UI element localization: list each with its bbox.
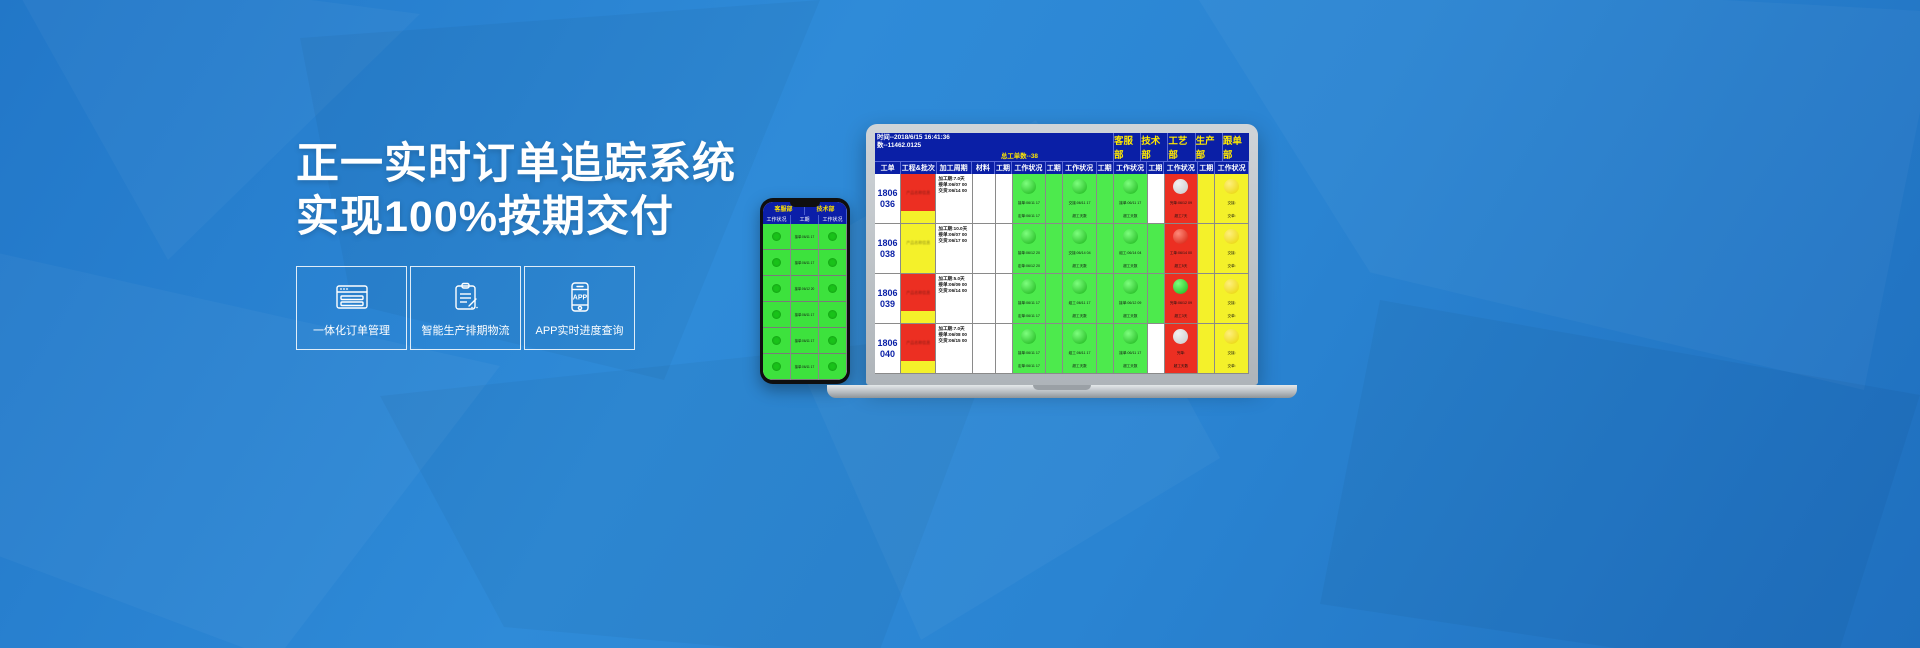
status-dot-green: [1123, 179, 1138, 194]
cell-status[interactable]: 接单:06/12 09超工天数: [1114, 274, 1148, 323]
cell-status[interactable]: 接单:06/11 17定单:06/11 17: [1013, 274, 1047, 323]
status-label: 交接:06/11 17: [1069, 201, 1091, 206]
status-label: 接单:06/12 20: [1018, 251, 1040, 256]
project-name: 产品名称信息: [904, 340, 932, 345]
feature-card-app-tracking[interactable]: APP APP实时进度查询: [524, 266, 635, 350]
cell-material: [973, 324, 996, 373]
workorder-prefix: 1806: [878, 288, 898, 299]
status-label: 超工天数: [1072, 214, 1086, 219]
status-label: 交接:: [1228, 251, 1236, 256]
cell-cycle: 加工期:7.0天接单:06/08 00交货:06/15 00: [936, 324, 972, 373]
status-dot-grey: [1173, 329, 1188, 344]
phone-status-cell[interactable]: [819, 276, 846, 302]
cell-status[interactable]: 完单:06/12 09超工3天: [1165, 274, 1199, 323]
phone-label-cell[interactable]: 接单:06/11 17: [791, 328, 818, 354]
workorder-suffix: 038: [880, 249, 895, 260]
status-label: 接单:06/11 17: [1119, 351, 1141, 356]
project-color-block: 产品名称信息: [901, 274, 935, 311]
status-label: 超工天数: [1174, 364, 1188, 369]
cell-duedate: [1198, 274, 1215, 323]
feature-card-order-management[interactable]: 一体化订单管理: [296, 266, 407, 350]
dept-header-kefu[interactable]: 客服部: [1113, 133, 1140, 161]
phone-status-cell[interactable]: [819, 354, 846, 380]
phone-column-header: 工作状况 工期 工作状况: [763, 215, 847, 224]
status-dot-green: [1072, 329, 1087, 344]
col-header-duedate[interactable]: 工期: [1198, 162, 1215, 174]
status-dot-yellow: [1224, 229, 1239, 244]
col-header-status[interactable]: 工作状况: [1114, 162, 1148, 174]
col-header-status[interactable]: 工作状况: [1063, 162, 1097, 174]
status-label: 接单:06/11 17: [1018, 301, 1040, 306]
phone-status-cell[interactable]: [763, 250, 790, 276]
status-label: 交接:06/14 04: [1068, 251, 1090, 256]
project-batch-block: [901, 361, 935, 373]
cell-duedate: [996, 174, 1013, 223]
headline-line-2: 实现100%按期交付: [296, 191, 716, 244]
cell-status[interactable]: 组工:06/11 17超工天数: [1063, 324, 1097, 373]
status-dot-green: [772, 362, 781, 371]
cell-duedate: [1198, 174, 1215, 223]
status-label: 接单:06/11 17: [1119, 201, 1141, 206]
cell-status[interactable]: 交接:交单:: [1215, 224, 1249, 273]
hero-banner: 正一实时订单追踪系统 实现100%按期交付 一体化订单管理: [0, 0, 1920, 648]
cell-duedate: [1148, 274, 1165, 323]
workorder-suffix: 039: [880, 299, 895, 310]
status-label: 定单:06/12 20: [1018, 264, 1040, 269]
phone-row-label: 接单:06/11 17: [795, 261, 814, 265]
col-header-status[interactable]: 工作状况: [1215, 162, 1249, 174]
workorder-suffix: 040: [880, 349, 895, 360]
table-row[interactable]: 1806039产品名称信息加工期:5.0天接单:06/09 00交货:06/14…: [875, 274, 1249, 324]
cycle-line: 交货:06/14 00: [938, 288, 969, 294]
status-dot-green: [772, 232, 781, 241]
mobile-app-icon: APP: [567, 278, 593, 316]
phone-status-cell[interactable]: [819, 302, 846, 328]
cell-status[interactable]: 交接:交单:: [1215, 174, 1249, 223]
col-header-workorder[interactable]: 工单: [875, 162, 901, 174]
phone-label-column: 接单:06/11 17 接单:06/11 17 接单:06/12 20 接单:0…: [791, 224, 819, 380]
cell-workorder: 1806038: [875, 224, 901, 273]
status-label: 接单:06/11 17: [1018, 201, 1040, 206]
col-header-duedate[interactable]: 工期: [1097, 162, 1114, 174]
dept-header-gendan[interactable]: 跟单部: [1222, 133, 1249, 161]
cell-status[interactable]: 组工:06/14 04超工天数: [1114, 224, 1148, 273]
cycle-line: 交货:06/15 00: [938, 338, 969, 344]
phone-screen: 客服部 技术部 工作状况 工期 工作状况 接单:06/11 17: [763, 202, 847, 380]
screen-table-body: 1806036产品名称信息加工期:7.0天接单:06/07 00交货:06/14…: [875, 174, 1249, 374]
cell-status[interactable]: 组工:06/11 17超工天数: [1063, 274, 1097, 323]
status-dot-green: [1072, 229, 1087, 244]
laptop-base: [827, 385, 1297, 398]
status-label: 定单:06/11 17: [1018, 314, 1040, 319]
status-dot-green: [828, 362, 837, 371]
phone-status-column: [763, 224, 791, 380]
phone-status-cell[interactable]: [819, 328, 846, 354]
workorder-prefix: 1806: [878, 338, 898, 349]
phone-status-cell[interactable]: [763, 224, 790, 250]
col-header-duedate[interactable]: 工期: [1147, 162, 1164, 174]
phone-status-cell[interactable]: [819, 224, 846, 250]
clipboard-icon: [451, 278, 481, 316]
laptop-screen: 时间--2018/6/15 16:41:36 数--11462.0125 总工单…: [875, 133, 1249, 374]
project-name: 产品名称信息: [904, 240, 932, 245]
cell-duedate: [1097, 324, 1114, 373]
col-header-duedate[interactable]: 工期: [1046, 162, 1063, 174]
status-dot-green: [828, 310, 837, 319]
status-label: 超工天数: [1123, 364, 1137, 369]
phone-mockup: 客服部 技术部 工作状况 工期 工作状况 接单:06/11 17: [760, 198, 850, 384]
cell-duedate: [996, 274, 1013, 323]
cell-project: 产品名称信息: [901, 324, 936, 373]
status-dot-green: [1021, 229, 1036, 244]
status-dot-grey: [1173, 179, 1188, 194]
phone-row-label: 接单:06/12 20: [795, 287, 815, 291]
col-header-status[interactable]: 工作状况: [1164, 162, 1198, 174]
status-label: 定单:06/11 17: [1018, 364, 1040, 369]
status-dot-green: [828, 258, 837, 267]
cell-duedate: [1198, 224, 1215, 273]
project-name: 产品名称信息: [904, 190, 932, 195]
workorder-prefix: 1806: [878, 188, 898, 199]
cell-cycle: 加工期:7.0天接单:06/07 00交货:06/14 00: [936, 174, 972, 223]
project-color-block: 产品名称信息: [901, 224, 935, 261]
phone-label-cell[interactable]: 接单:06/12 20: [791, 276, 818, 302]
cell-duedate: [1097, 174, 1114, 223]
phone-status-cell[interactable]: [763, 276, 790, 302]
workorder-suffix: 036: [880, 199, 895, 210]
cell-status[interactable]: 接单:06/11 17定单:06/11 17: [1013, 174, 1047, 223]
feature-label: APP实时进度查询: [535, 322, 623, 338]
project-color-block: 产品名称信息: [901, 324, 935, 361]
status-dot-green: [828, 284, 837, 293]
status-dot-green: [1123, 329, 1138, 344]
screen-total-orders: 总工单数--38: [1001, 151, 1038, 161]
screen-column-header: 工单 工程&批次 加工周期 材料 工期 工作状况 工期 工作状况 工期 工作状况…: [875, 161, 1249, 174]
status-label: 交接:: [1228, 351, 1236, 356]
headline-line-1: 正一实时订单追踪系统: [296, 138, 716, 191]
status-label: 组工:06/11 17: [1069, 351, 1091, 356]
status-label: 完单:06/12 09: [1170, 201, 1192, 206]
status-label: 交单:: [1228, 314, 1236, 319]
status-dot-green: [828, 336, 837, 345]
cell-cycle: 加工期:10.0天接单:06/07 00交货:06/17 00: [936, 224, 972, 273]
status-label: 交单:: [1228, 264, 1236, 269]
status-label: 完单:06/12 09: [1170, 301, 1192, 306]
browser-window-icon: [335, 278, 369, 316]
feature-card-smart-scheduling[interactable]: 智能生产排期物流: [410, 266, 521, 350]
project-batch-block: [901, 261, 935, 273]
cell-cycle: 加工期:5.0天接单:06/09 00交货:06/14 00: [936, 274, 972, 323]
cell-material: [973, 274, 996, 323]
project-batch-block: [901, 211, 935, 223]
screen-count-label: 数--11462.0125: [877, 142, 999, 150]
phone-notch: [790, 202, 820, 207]
cell-status[interactable]: 接单:06/11 17定单:06/11 17: [1013, 324, 1047, 373]
status-label: 交接:: [1228, 301, 1236, 306]
phone-row-label: 接单:06/11 17: [795, 339, 814, 343]
status-label: 超工3天: [1175, 314, 1188, 319]
cell-workorder: 1806036: [875, 174, 901, 223]
status-label: 交单:: [1228, 364, 1236, 369]
phone-row-label: 接单:06/11 17: [795, 365, 814, 369]
cell-duedate: [996, 324, 1013, 373]
cell-duedate: [1046, 274, 1063, 323]
status-dot-green: [772, 258, 781, 267]
workorder-prefix: 1806: [878, 238, 898, 249]
status-label: 超工7天: [1175, 214, 1188, 219]
laptop-mockup: 时间--2018/6/15 16:41:36 数--11462.0125 总工单…: [866, 124, 1297, 398]
phone-status-cell[interactable]: [763, 328, 790, 354]
status-label: 接单:06/11 17: [1018, 351, 1040, 356]
status-dot-green: [1123, 279, 1138, 294]
cell-duedate: [1046, 324, 1063, 373]
cell-status[interactable]: 工单:06/14 00超工5天: [1165, 224, 1199, 273]
phone-label-cell[interactable]: 接单:06/11 17: [791, 250, 818, 276]
screen-total-orders-wrap: 总工单数--38: [1001, 133, 1113, 161]
table-row[interactable]: 1806036产品名称信息加工期:7.0天接单:06/07 00交货:06/14…: [875, 174, 1249, 224]
phone-status-cell[interactable]: [819, 250, 846, 276]
cell-status[interactable]: 完单:06/12 09超工7天: [1165, 174, 1199, 223]
status-dot-green: [772, 284, 781, 293]
phone-label-cell[interactable]: 接单:06/11 17: [791, 224, 818, 250]
status-label: 超工天数: [1072, 314, 1086, 319]
cell-project: 产品名称信息: [901, 174, 936, 223]
project-name: 产品名称信息: [904, 290, 932, 295]
phone-column-label: 工作状况: [819, 215, 847, 224]
cell-duedate: [1148, 174, 1165, 223]
phone-label-cell[interactable]: 接单:06/11 17: [791, 302, 818, 328]
cell-duedate: [1097, 274, 1114, 323]
status-dot-green: [772, 310, 781, 319]
cell-status[interactable]: 交接:交单:: [1215, 324, 1249, 373]
cell-material: [973, 224, 996, 273]
cell-workorder: 1806040: [875, 324, 901, 373]
status-label: 超工5天: [1175, 264, 1188, 269]
phone-row-label: 接单:06/11 17: [795, 235, 814, 239]
table-row[interactable]: 1806038产品名称信息加工期:10.0天接单:06/07 00交货:06/1…: [875, 224, 1249, 274]
cell-workorder: 1806039: [875, 274, 901, 323]
cell-duedate: [1148, 324, 1165, 373]
feature-label: 一体化订单管理: [313, 322, 390, 338]
screen-header: 时间--2018/6/15 16:41:36 数--11462.0125 总工单…: [875, 133, 1249, 161]
status-label: 超工天数: [1072, 364, 1086, 369]
status-dot-green: [1123, 229, 1138, 244]
status-label: 完单:: [1177, 351, 1185, 356]
cell-duedate: [1046, 224, 1063, 273]
status-label: 接单:06/12 09: [1119, 301, 1141, 306]
status-dot-green: [772, 336, 781, 345]
cycle-line: 交货:06/14 00: [938, 188, 969, 194]
laptop-lid: 时间--2018/6/15 16:41:36 数--11462.0125 总工单…: [866, 124, 1258, 385]
status-dot-red: [1173, 229, 1188, 244]
col-header-duedate[interactable]: 工期: [995, 162, 1012, 174]
status-label: 组工:06/14 04: [1119, 251, 1141, 256]
phone-column-label: 工期: [791, 215, 819, 224]
status-label: 超工天数: [1123, 214, 1137, 219]
phone-row-label: 接单:06/11 17: [795, 313, 814, 317]
cell-duedate: [1198, 324, 1215, 373]
feature-label: 智能生产排期物流: [422, 322, 510, 338]
status-label: 工单:06/14 00: [1170, 251, 1192, 256]
status-dot-yellow: [1224, 279, 1239, 294]
status-dot-yellow: [1224, 179, 1239, 194]
phone-table-body: 接单:06/11 17 接单:06/11 17 接单:06/12 20 接单:0…: [763, 224, 847, 380]
status-dot-green: [1021, 329, 1036, 344]
status-label: 超工天数: [1123, 264, 1137, 269]
status-dot-green: [1173, 279, 1188, 294]
screen-meta: 时间--2018/6/15 16:41:36 数--11462.0125: [875, 133, 1001, 161]
phone-status-cell[interactable]: [763, 302, 790, 328]
hero-text-block: 正一实时订单追踪系统 实现100%按期交付 一体化订单管理: [296, 138, 716, 350]
cell-duedate: [1046, 174, 1063, 223]
cell-duedate: [1097, 224, 1114, 273]
project-color-block: 产品名称信息: [901, 174, 935, 211]
status-dot-green: [1021, 179, 1036, 194]
project-batch-block: [901, 311, 935, 323]
status-dot-yellow: [1224, 329, 1239, 344]
cell-duedate: [996, 224, 1013, 273]
cell-status[interactable]: 交接:交单:: [1215, 274, 1249, 323]
cell-status[interactable]: 完单:超工天数: [1165, 324, 1199, 373]
col-header-project[interactable]: 工程&批次: [901, 162, 936, 174]
status-dot-green: [1072, 279, 1087, 294]
status-label: 定单:06/11 17: [1018, 214, 1040, 219]
cell-project: 产品名称信息: [901, 224, 936, 273]
cell-status[interactable]: 接单:06/11 17超工天数: [1114, 324, 1148, 373]
status-label: 超工天数: [1072, 264, 1086, 269]
cell-status[interactable]: 交接:06/14 04超工天数: [1063, 224, 1097, 273]
screen-time-label: 时间--2018/6/15 16:41:36: [877, 134, 999, 142]
status-label: 组工:06/11 17: [1069, 301, 1091, 306]
phone-status-column-2: [819, 224, 847, 380]
phone-status-cell[interactable]: [763, 354, 790, 380]
dept-header-jishu[interactable]: 技术部: [1140, 133, 1167, 161]
status-label: 交单:: [1228, 214, 1236, 219]
dept-header-shengchan[interactable]: 生产部: [1195, 133, 1222, 161]
cell-material: [973, 174, 996, 223]
phone-column-label: 工作状况: [763, 215, 791, 224]
status-label: 交接:: [1228, 201, 1236, 206]
dept-header-gongyi[interactable]: 工艺部: [1167, 133, 1194, 161]
status-dot-green: [1021, 279, 1036, 294]
status-dot-green: [828, 232, 837, 241]
phone-label-cell[interactable]: 接单:06/11 17: [791, 354, 818, 380]
table-row[interactable]: 1806040产品名称信息加工期:7.0天接单:06/08 00交货:06/15…: [875, 324, 1249, 374]
cell-status[interactable]: 接单:06/12 20定单:06/12 20: [1013, 224, 1047, 273]
cycle-line: 交货:06/17 00: [938, 238, 969, 244]
app-icon-text: APP: [572, 295, 587, 302]
feature-list: 一体化订单管理 智能生产排期物流: [296, 266, 716, 350]
cell-duedate: [1148, 224, 1165, 273]
cell-status[interactable]: 接单:06/11 17超工天数: [1114, 174, 1148, 223]
status-label: 超工天数: [1123, 314, 1137, 319]
status-dot-green: [1072, 179, 1087, 194]
col-header-cycle[interactable]: 加工周期: [937, 162, 972, 174]
cell-project: 产品名称信息: [901, 274, 936, 323]
cell-status[interactable]: 交接:06/11 17超工天数: [1063, 174, 1097, 223]
col-header-status[interactable]: 工作状况: [1012, 162, 1046, 174]
col-header-material[interactable]: 材料: [972, 162, 995, 174]
